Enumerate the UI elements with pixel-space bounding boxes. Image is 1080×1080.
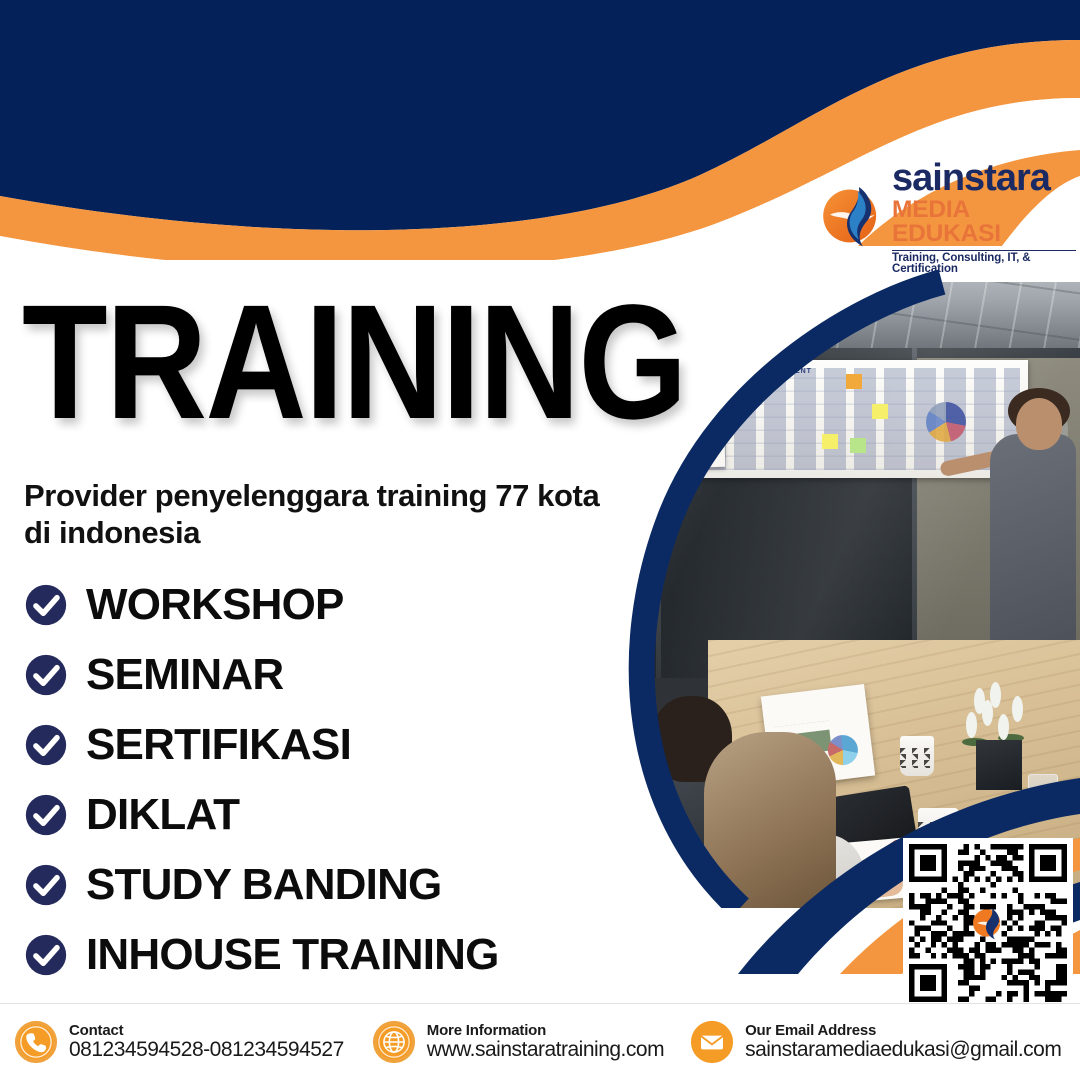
list-item-label: INHOUSE TRAINING xyxy=(86,933,499,977)
qr-center-logo-icon xyxy=(971,906,1005,940)
logo-name: sainstara xyxy=(892,159,1076,197)
qr-code[interactable] xyxy=(903,838,1073,1008)
check-circle-icon xyxy=(24,793,68,837)
qr-code-canvas xyxy=(909,844,1067,1002)
page-title: TRAINING xyxy=(22,292,686,432)
footer-website-item[interactable]: More Information www.sainstaratraining.c… xyxy=(372,1004,664,1080)
footer-email-label: Our Email Address xyxy=(745,1023,1061,1039)
footer-website-label: More Information xyxy=(427,1023,664,1039)
phone-icon xyxy=(14,1020,58,1064)
list-item-label: SERTIFIKASI xyxy=(86,723,351,767)
list-item-label: STUDY BANDING xyxy=(86,863,441,907)
training-promo-poster: sainstara MEDIA EDUKASI Training, Consul… xyxy=(0,0,1080,1080)
list-item[interactable]: SERTIFIKASI xyxy=(24,710,624,780)
check-circle-icon xyxy=(24,863,68,907)
list-item[interactable]: SEMINAR xyxy=(24,640,624,710)
list-item-label: SEMINAR xyxy=(86,653,283,697)
footer-contact-label: Contact xyxy=(69,1023,344,1039)
footer-website-text: More Information www.sainstaratraining.c… xyxy=(427,1023,664,1062)
globe-icon xyxy=(372,1020,416,1064)
footer-email-value: sainstaramediaedukasi@gmail.com xyxy=(745,1039,1061,1062)
check-circle-icon xyxy=(24,723,68,767)
list-item[interactable]: WORKSHOP xyxy=(24,570,624,640)
envelope-icon xyxy=(690,1020,734,1064)
footer-contact-value: 081234594528-081234594527 xyxy=(69,1039,344,1062)
logo-subtitle: MEDIA EDUKASI xyxy=(892,198,1076,247)
footer-contact-text: Contact 081234594528-081234594527 xyxy=(69,1023,344,1062)
check-circle-icon xyxy=(24,653,68,697)
list-item[interactable]: STUDY BANDING xyxy=(24,850,624,920)
list-item-label: WORKSHOP xyxy=(86,583,344,627)
check-circle-icon xyxy=(24,583,68,627)
check-circle-icon xyxy=(24,933,68,977)
sainstara-flame-map-logo-icon xyxy=(818,183,884,249)
page-subtitle: Provider penyelenggara training 77 kota … xyxy=(24,478,624,551)
footer-website-value: www.sainstaratraining.com xyxy=(427,1039,664,1062)
footer-email-text: Our Email Address sainstaramediaedukasi@… xyxy=(745,1023,1061,1062)
footer-contact-bar: Contact 081234594528-081234594527 More I… xyxy=(0,1003,1080,1080)
list-item[interactable]: DIKLAT xyxy=(24,780,624,850)
services-list: WORKSHOP SEMINAR SERTIFIKASI DIKLAT xyxy=(24,570,624,990)
footer-contact-item[interactable]: Contact 081234594528-081234594527 xyxy=(14,1004,344,1080)
list-item-label: DIKLAT xyxy=(86,793,239,837)
footer-email-item[interactable]: Our Email Address sainstaramediaedukasi@… xyxy=(690,1004,1061,1080)
list-item[interactable]: INHOUSE TRAINING xyxy=(24,920,624,990)
